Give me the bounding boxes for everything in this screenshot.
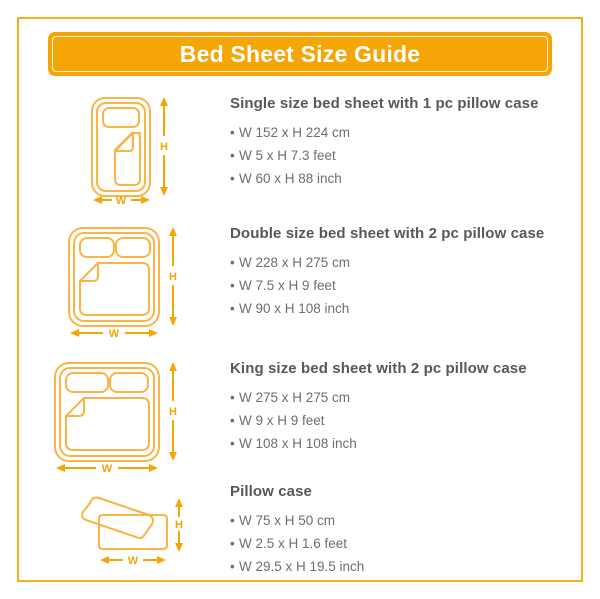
bullet-text: W 228 x H 275 cm xyxy=(239,255,350,270)
single-bed-dimensions: H W xyxy=(37,95,187,205)
bullet-text: W 152 x H 224 cm xyxy=(239,125,350,140)
bullet-text: W 5 x H 7.3 feet xyxy=(239,148,336,163)
width-arrow-right xyxy=(149,329,158,337)
bullet-dot-icon: • xyxy=(230,532,239,555)
bed-sheet-size-guide-page: Bed Sheet Size Guide xyxy=(0,0,600,599)
bullet-item: •W 2.5 x H 1.6 feet xyxy=(230,532,600,555)
bullet-item: •W 75 x H 50 cm xyxy=(230,509,600,532)
bullet-item: •W 108 x H 108 inch xyxy=(230,432,600,455)
pillow-case-figure: H W xyxy=(37,483,187,568)
bullet-text: W 29.5 x H 19.5 inch xyxy=(239,559,364,574)
single-bed-text-block: Single size bed sheet with 1 pc pillow c… xyxy=(230,95,600,190)
bullet-item: •W 275 x H 275 cm xyxy=(230,386,600,409)
bullet-text: W 275 x H 275 cm xyxy=(239,390,350,405)
bullet-text: W 60 x H 88 inch xyxy=(239,171,342,186)
bullet-dot-icon: • xyxy=(230,386,239,409)
double-bed-text-block: Double size bed sheet with 2 pc pillow c… xyxy=(230,225,600,320)
section-heading: King size bed sheet with 2 pc pillow cas… xyxy=(230,360,600,377)
width-label: W xyxy=(116,195,127,207)
bullet-item: •W 152 x H 224 cm xyxy=(230,121,600,144)
bullet-dot-icon: • xyxy=(230,121,239,144)
bullet-text: W 90 x H 108 inch xyxy=(239,301,349,316)
width-arrow-left xyxy=(93,196,102,204)
height-label: H xyxy=(169,271,177,283)
width-arrow-left xyxy=(100,556,109,564)
width-arrow-right xyxy=(157,556,166,564)
width-arrow-right xyxy=(141,196,150,204)
section-bullets: •W 75 x H 50 cm •W 2.5 x H 1.6 feet •W 2… xyxy=(230,509,600,578)
section-bullets: •W 152 x H 224 cm •W 5 x H 7.3 feet •W 6… xyxy=(230,121,600,190)
height-arrow-down xyxy=(169,317,177,326)
height-arrow-up xyxy=(169,362,177,371)
bullet-item: •W 7.5 x H 9 feet xyxy=(230,274,600,297)
bullet-dot-icon: • xyxy=(230,297,239,320)
width-arrow-left xyxy=(56,464,65,472)
section-heading: Double size bed sheet with 2 pc pillow c… xyxy=(230,225,600,242)
bullet-dot-icon: • xyxy=(230,509,239,532)
single-bed-figure: H W xyxy=(37,95,187,205)
bullet-dot-icon: • xyxy=(230,409,239,432)
height-label: H xyxy=(169,406,177,418)
height-arrow-up xyxy=(175,498,183,507)
section-bullets: •W 228 x H 275 cm •W 7.5 x H 9 feet •W 9… xyxy=(230,251,600,320)
bullet-item: •W 9 x H 9 feet xyxy=(230,409,600,432)
bullet-dot-icon: • xyxy=(230,555,239,578)
bullet-dot-icon: • xyxy=(230,274,239,297)
bullet-item: •W 29.5 x H 19.5 inch xyxy=(230,555,600,578)
bullet-item: •W 60 x H 88 inch xyxy=(230,167,600,190)
height-label: H xyxy=(175,519,183,531)
width-arrow-right xyxy=(149,464,158,472)
bullet-text: W 9 x H 9 feet xyxy=(239,413,325,428)
height-arrow-down xyxy=(175,543,183,552)
king-bed-dimensions: H W xyxy=(37,360,187,475)
double-bed-figure: H W xyxy=(37,225,187,340)
title-banner: Bed Sheet Size Guide xyxy=(48,32,552,76)
bullet-dot-icon: • xyxy=(230,144,239,167)
bullet-item: •W 5 x H 7.3 feet xyxy=(230,144,600,167)
pillow-case-text-block: Pillow case •W 75 x H 50 cm •W 2.5 x H 1… xyxy=(230,483,600,578)
bullet-item: •W 228 x H 275 cm xyxy=(230,251,600,274)
section-bullets: •W 275 x H 275 cm •W 9 x H 9 feet •W 108… xyxy=(230,386,600,455)
height-arrow-up xyxy=(169,227,177,236)
section-heading: Single size bed sheet with 1 pc pillow c… xyxy=(230,95,600,112)
height-arrow-down xyxy=(160,187,168,196)
width-label: W xyxy=(102,463,113,475)
bullet-text: W 2.5 x H 1.6 feet xyxy=(239,536,347,551)
width-arrow-left xyxy=(70,329,79,337)
section-heading: Pillow case xyxy=(230,483,600,500)
king-bed-text-block: King size bed sheet with 2 pc pillow cas… xyxy=(230,360,600,455)
height-label: H xyxy=(160,141,168,153)
bullet-item: •W 90 x H 108 inch xyxy=(230,297,600,320)
height-arrow-down xyxy=(169,452,177,461)
pillow-case-dimensions: H W xyxy=(37,483,187,568)
bullet-dot-icon: • xyxy=(230,432,239,455)
bullet-text: W 7.5 x H 9 feet xyxy=(239,278,336,293)
king-bed-figure: H W xyxy=(37,360,187,475)
bullet-dot-icon: • xyxy=(230,251,239,274)
height-arrow-up xyxy=(160,97,168,106)
bullet-text: W 108 x H 108 inch xyxy=(239,436,357,451)
bullet-dot-icon: • xyxy=(230,167,239,190)
bullet-text: W 75 x H 50 cm xyxy=(239,513,335,528)
width-label: W xyxy=(128,555,139,567)
width-label: W xyxy=(109,328,120,340)
double-bed-dimensions: H W xyxy=(37,225,187,340)
page-title: Bed Sheet Size Guide xyxy=(180,41,420,68)
